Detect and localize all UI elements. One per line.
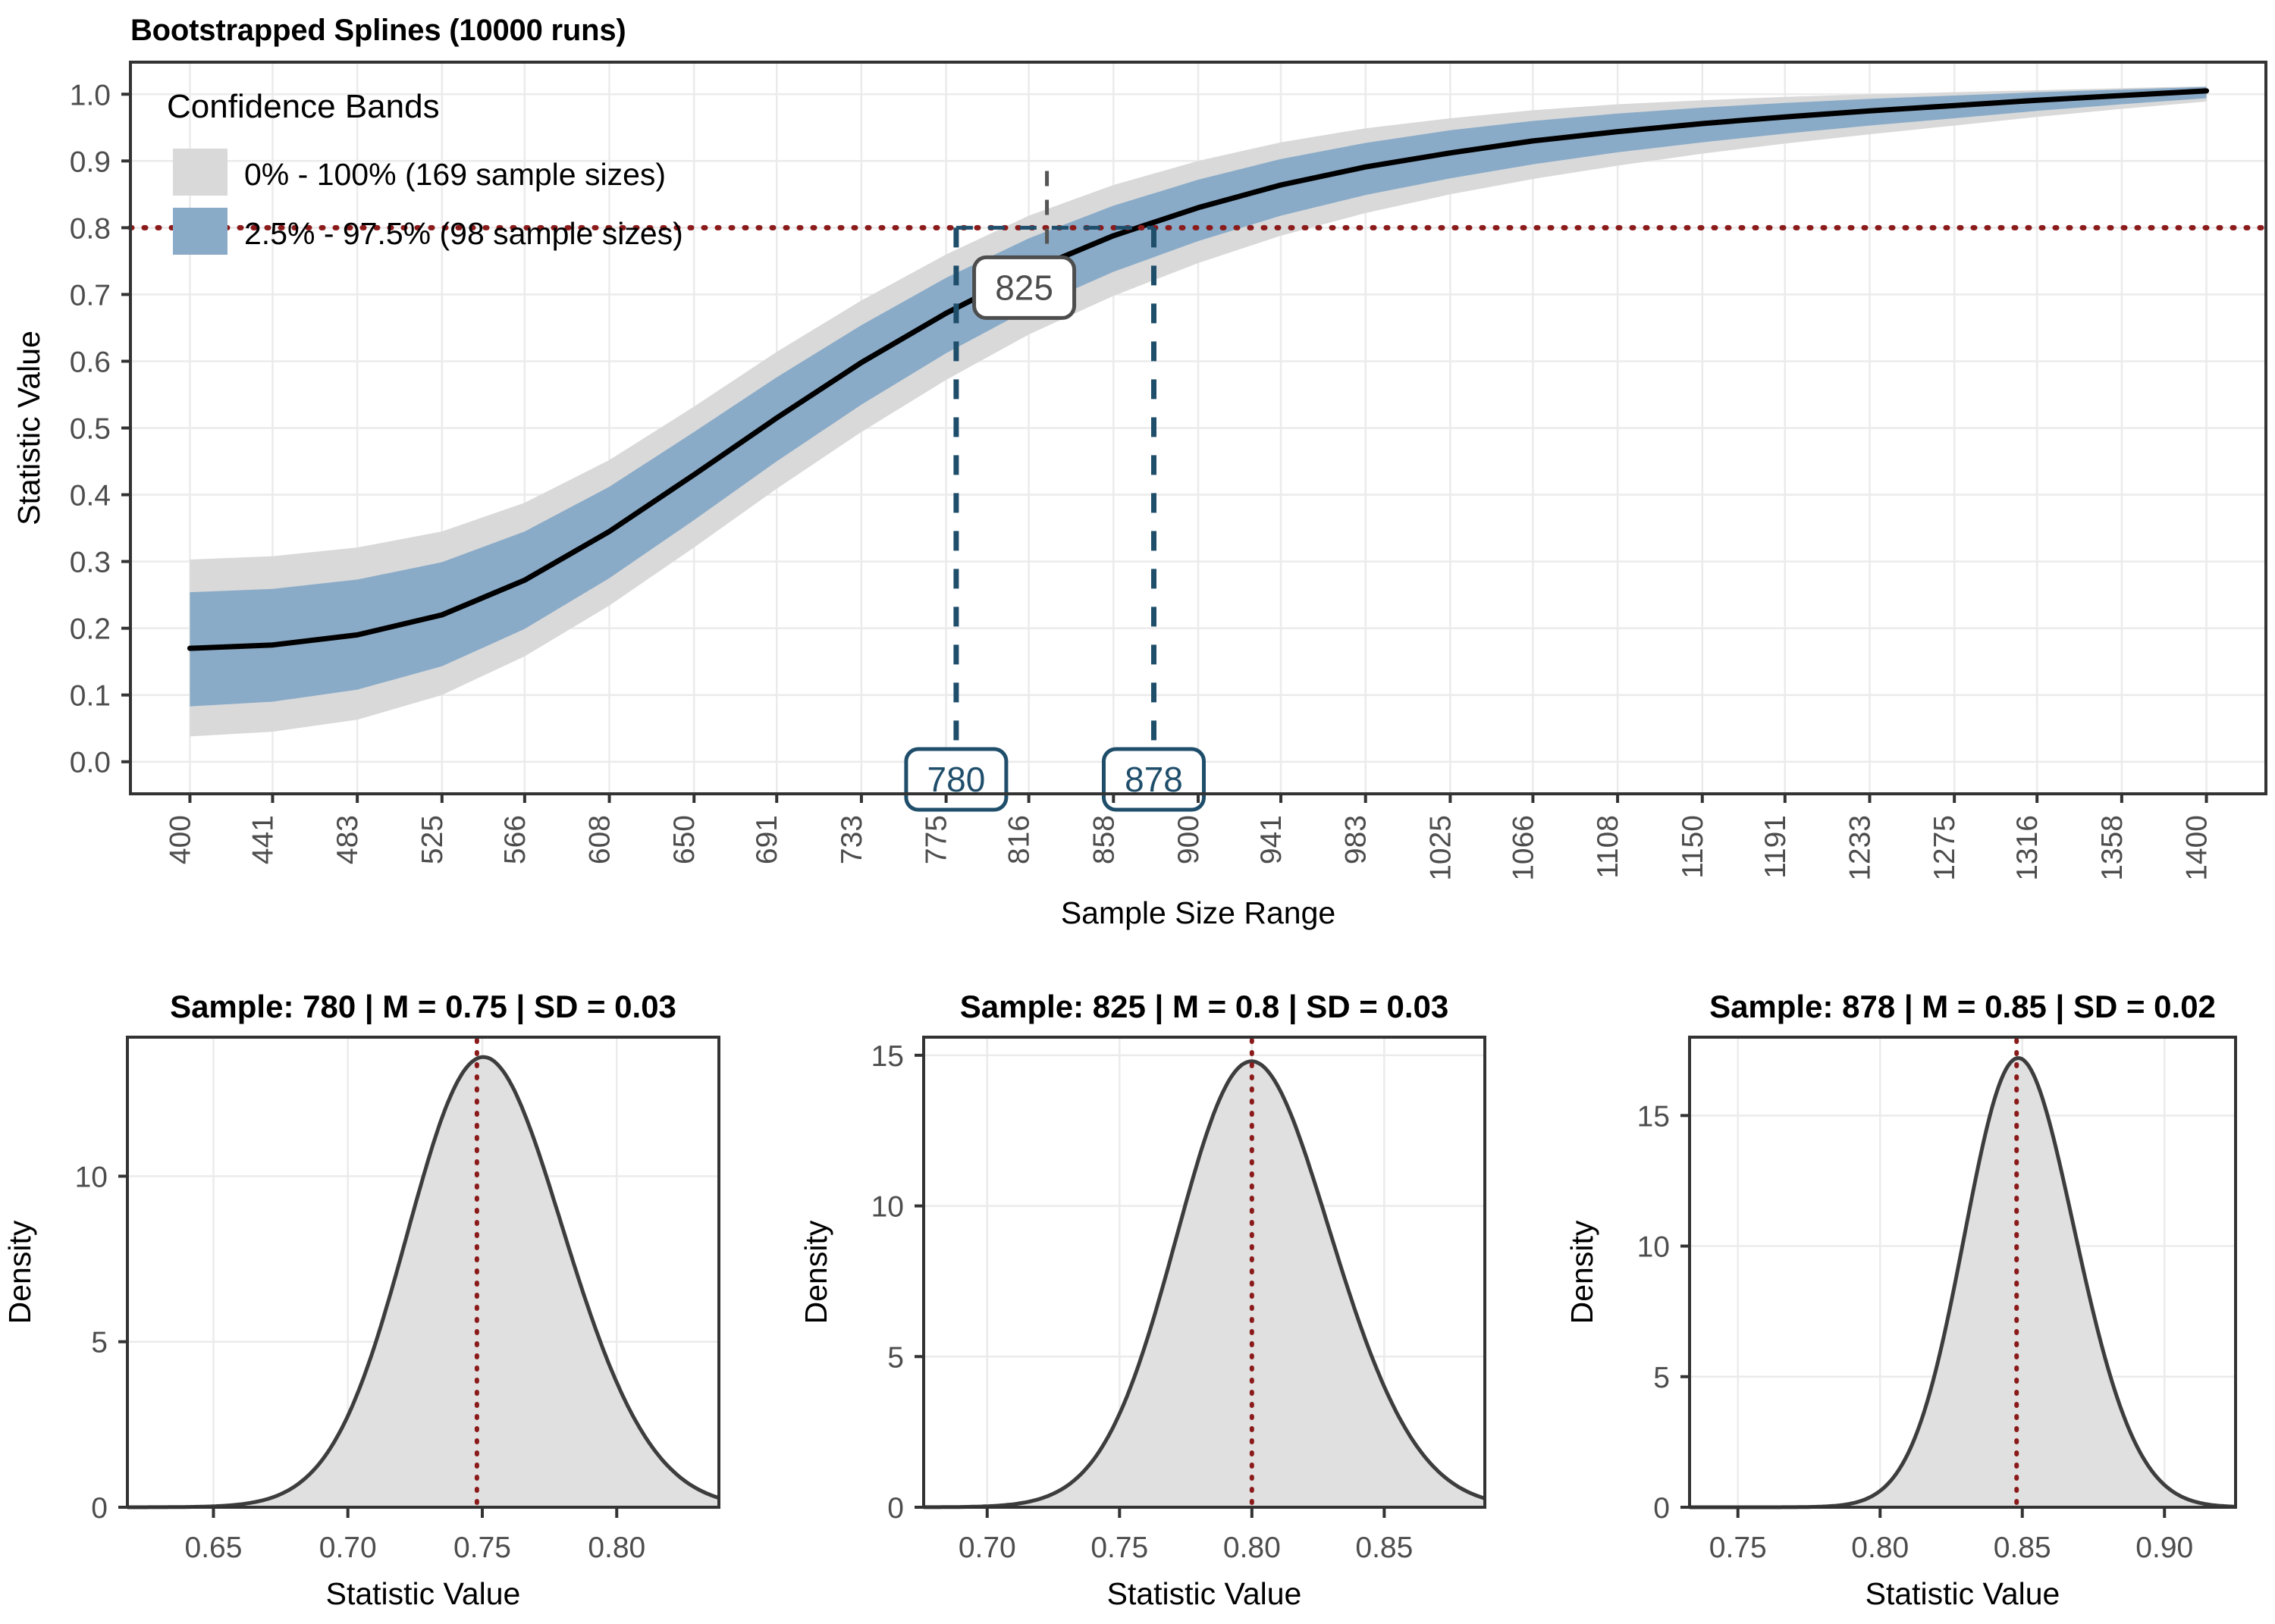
page-title: Bootstrapped Splines (10000 runs) xyxy=(130,14,626,48)
x-tick-label: 1275 xyxy=(1928,815,1961,881)
x-tick-label: 0.90 xyxy=(2135,1532,2193,1564)
x-tick-label: 0.75 xyxy=(1090,1532,1148,1564)
y-tick-label: 0.7 xyxy=(70,279,111,312)
y-tick-label: 15 xyxy=(1637,1100,1670,1133)
figure-root: Bootstrapped Splines (10000 runs) 825780… xyxy=(0,0,2275,1624)
y-tick-label: 1.0 xyxy=(70,79,111,111)
x-tick-label: 1233 xyxy=(1844,815,1876,881)
x-tick-label: 0.70 xyxy=(319,1532,377,1564)
x-tick-label: 1358 xyxy=(2096,815,2129,881)
density-878-title: Sample: 878 | M = 0.85 | SD = 0.02 xyxy=(1709,989,2216,1025)
x-tick-label: 0.75 xyxy=(1709,1532,1767,1564)
density-780: Sample: 780 | M = 0.75 | SD = 0.0305100.… xyxy=(2,989,719,1611)
x-tick-label: 733 xyxy=(836,815,868,864)
x-tick-label: 1108 xyxy=(1592,815,1624,879)
x-tick-label: 858 xyxy=(1087,815,1120,864)
legend-label: 2.5% - 97.5% (98 sample sizes) xyxy=(244,216,683,251)
x-tick-label: 0.80 xyxy=(588,1532,645,1564)
x-tick-label: 1191 xyxy=(1759,815,1792,879)
y-tick-label: 0.8 xyxy=(70,212,111,245)
x-tick-label: 0.80 xyxy=(1851,1532,1909,1564)
x-tick-label: 0.80 xyxy=(1223,1532,1281,1564)
y-tick-label: 15 xyxy=(871,1040,904,1073)
x-tick-label: 691 xyxy=(751,815,783,864)
x-tick-label: 941 xyxy=(1255,815,1288,864)
x-tick-label: 900 xyxy=(1172,815,1205,864)
y-tick-label: 0.5 xyxy=(70,413,111,446)
y-tick-label: 0 xyxy=(1653,1492,1670,1525)
y-axis-title: Statistic Value xyxy=(11,331,46,525)
x-tick-label: 1400 xyxy=(2181,815,2214,881)
x-tick-label: 0.65 xyxy=(185,1532,243,1564)
x-tick-label: 1066 xyxy=(1507,815,1539,881)
x-tick-label: 0.85 xyxy=(1355,1532,1413,1564)
y-tick-label: 0.1 xyxy=(70,680,111,713)
density-878-x-title: Statistic Value xyxy=(1865,1576,2060,1611)
density-878: Sample: 878 | M = 0.85 | SD = 0.02051015… xyxy=(1564,989,2236,1611)
y-tick-label: 0 xyxy=(91,1492,108,1525)
density-780-y-title: Density xyxy=(2,1220,37,1324)
y-tick-label: 0.6 xyxy=(70,346,111,378)
x-tick-label: 483 xyxy=(331,815,364,864)
density-825-title: Sample: 825 | M = 0.8 | SD = 0.03 xyxy=(960,989,1449,1025)
density-825-x-title: Statistic Value xyxy=(1107,1576,1302,1611)
x-tick-label: 566 xyxy=(499,815,532,864)
y-tick-label: 10 xyxy=(1637,1231,1670,1264)
density-780-x-title: Statistic Value xyxy=(326,1576,521,1611)
x-tick-label: 650 xyxy=(668,815,701,864)
x-tick-label: 1025 xyxy=(1424,815,1457,881)
x-tick-label: 525 xyxy=(416,815,449,864)
main-spline-chart: 8257808780.00.10.20.30.40.50.60.70.80.91… xyxy=(11,62,2266,930)
legend-swatch[interactable] xyxy=(173,149,227,196)
y-tick-label: 10 xyxy=(871,1191,904,1224)
y-tick-label: 5 xyxy=(887,1341,904,1374)
y-tick-label: 0.4 xyxy=(70,480,111,513)
y-tick-label: 0 xyxy=(887,1492,904,1525)
x-tick-label: 608 xyxy=(584,815,617,864)
x-tick-label: 441 xyxy=(246,815,279,864)
y-tick-label: 0.0 xyxy=(70,747,111,779)
x-tick-label: 983 xyxy=(1340,815,1373,864)
legend-swatch[interactable] xyxy=(173,208,227,255)
y-tick-label: 0.9 xyxy=(70,146,111,178)
density-878-y-title: Density xyxy=(1564,1220,1599,1324)
density-825: Sample: 825 | M = 0.8 | SD = 0.030510150… xyxy=(799,989,1485,1611)
x-tick-label: 1316 xyxy=(2011,815,2044,881)
y-tick-label: 5 xyxy=(91,1327,108,1359)
x-tick-label: 775 xyxy=(921,815,953,864)
y-tick-label: 0.3 xyxy=(70,547,111,579)
y-axis: 0.00.10.20.30.40.50.60.70.80.91.0 xyxy=(70,79,130,779)
legend-label: 0% - 100% (169 sample sizes) xyxy=(244,157,666,192)
y-tick-label: 5 xyxy=(1653,1362,1670,1394)
x-tick-label: 1150 xyxy=(1677,815,1709,879)
x-tick-label: 0.70 xyxy=(959,1532,1016,1564)
density-780-title: Sample: 780 | M = 0.75 | SD = 0.03 xyxy=(170,989,676,1025)
x-tick-label: 400 xyxy=(164,815,196,864)
y-tick-label: 0.2 xyxy=(70,613,111,646)
density-825-y-title: Density xyxy=(799,1220,833,1324)
y-tick-label: 10 xyxy=(75,1161,108,1193)
x-axis-title: Sample Size Range xyxy=(1061,895,1335,930)
x-tick-label: 0.75 xyxy=(453,1532,511,1564)
x-tick-label: 816 xyxy=(1003,815,1036,864)
annotation-825-label: 825 xyxy=(995,268,1053,307)
legend-title: Confidence Bands xyxy=(167,88,440,125)
x-tick-label: 0.85 xyxy=(1994,1532,2051,1564)
figure-canvas: 8257808780.00.10.20.30.40.50.60.70.80.91… xyxy=(0,0,2275,1624)
